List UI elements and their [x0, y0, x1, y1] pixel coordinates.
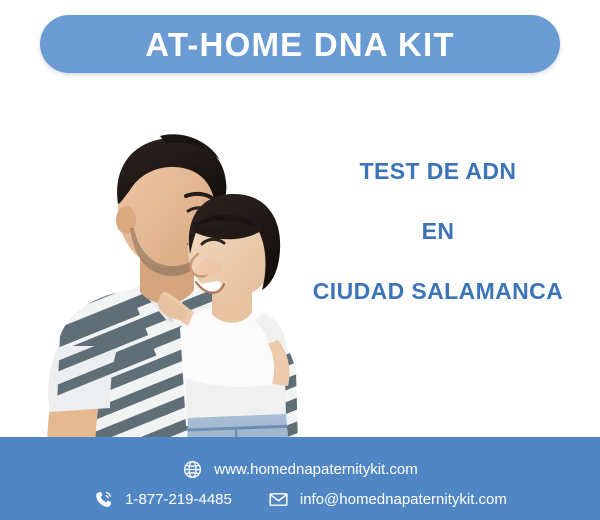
footer-bar-notch — [0, 437, 290, 449]
title-pill-label: AT-HOME DNA KIT — [145, 28, 454, 61]
footer-row-website: www.homednapaternitykit.com — [182, 456, 417, 483]
headline-line-2: EN — [300, 220, 576, 243]
footer-row-contact: 1-877-219-4485 info@homednapaternitykit.… — [93, 486, 507, 513]
footer-email-item[interactable]: info@homednapaternitykit.com — [268, 489, 507, 510]
title-pill: AT-HOME DNA KIT — [40, 15, 560, 73]
headline-line-1: TEST DE ADN — [300, 160, 576, 183]
footer-content: www.homednapaternitykit.com 1-877-219-44… — [0, 449, 600, 520]
phone-icon — [93, 489, 114, 510]
footer-website-item[interactable]: www.homednapaternitykit.com — [182, 459, 417, 480]
footer-phone-item[interactable]: 1-877-219-4485 — [93, 489, 232, 510]
footer-phone-label: 1-877-219-4485 — [125, 492, 232, 507]
headline-block: TEST DE ADN EN CIUDAD SALAMANCA — [300, 160, 576, 303]
poster-canvas: AT-HOME DNA KIT — [0, 0, 600, 520]
headline-line-3: CIUDAD SALAMANCA — [300, 280, 576, 303]
footer-email-label: info@homednapaternitykit.com — [300, 492, 507, 507]
footer-website-label: www.homednapaternitykit.com — [214, 462, 417, 477]
header-band: AT-HOME DNA KIT — [0, 0, 600, 88]
globe-icon — [182, 459, 203, 480]
child-cheek — [198, 259, 222, 277]
envelope-icon — [268, 489, 289, 510]
